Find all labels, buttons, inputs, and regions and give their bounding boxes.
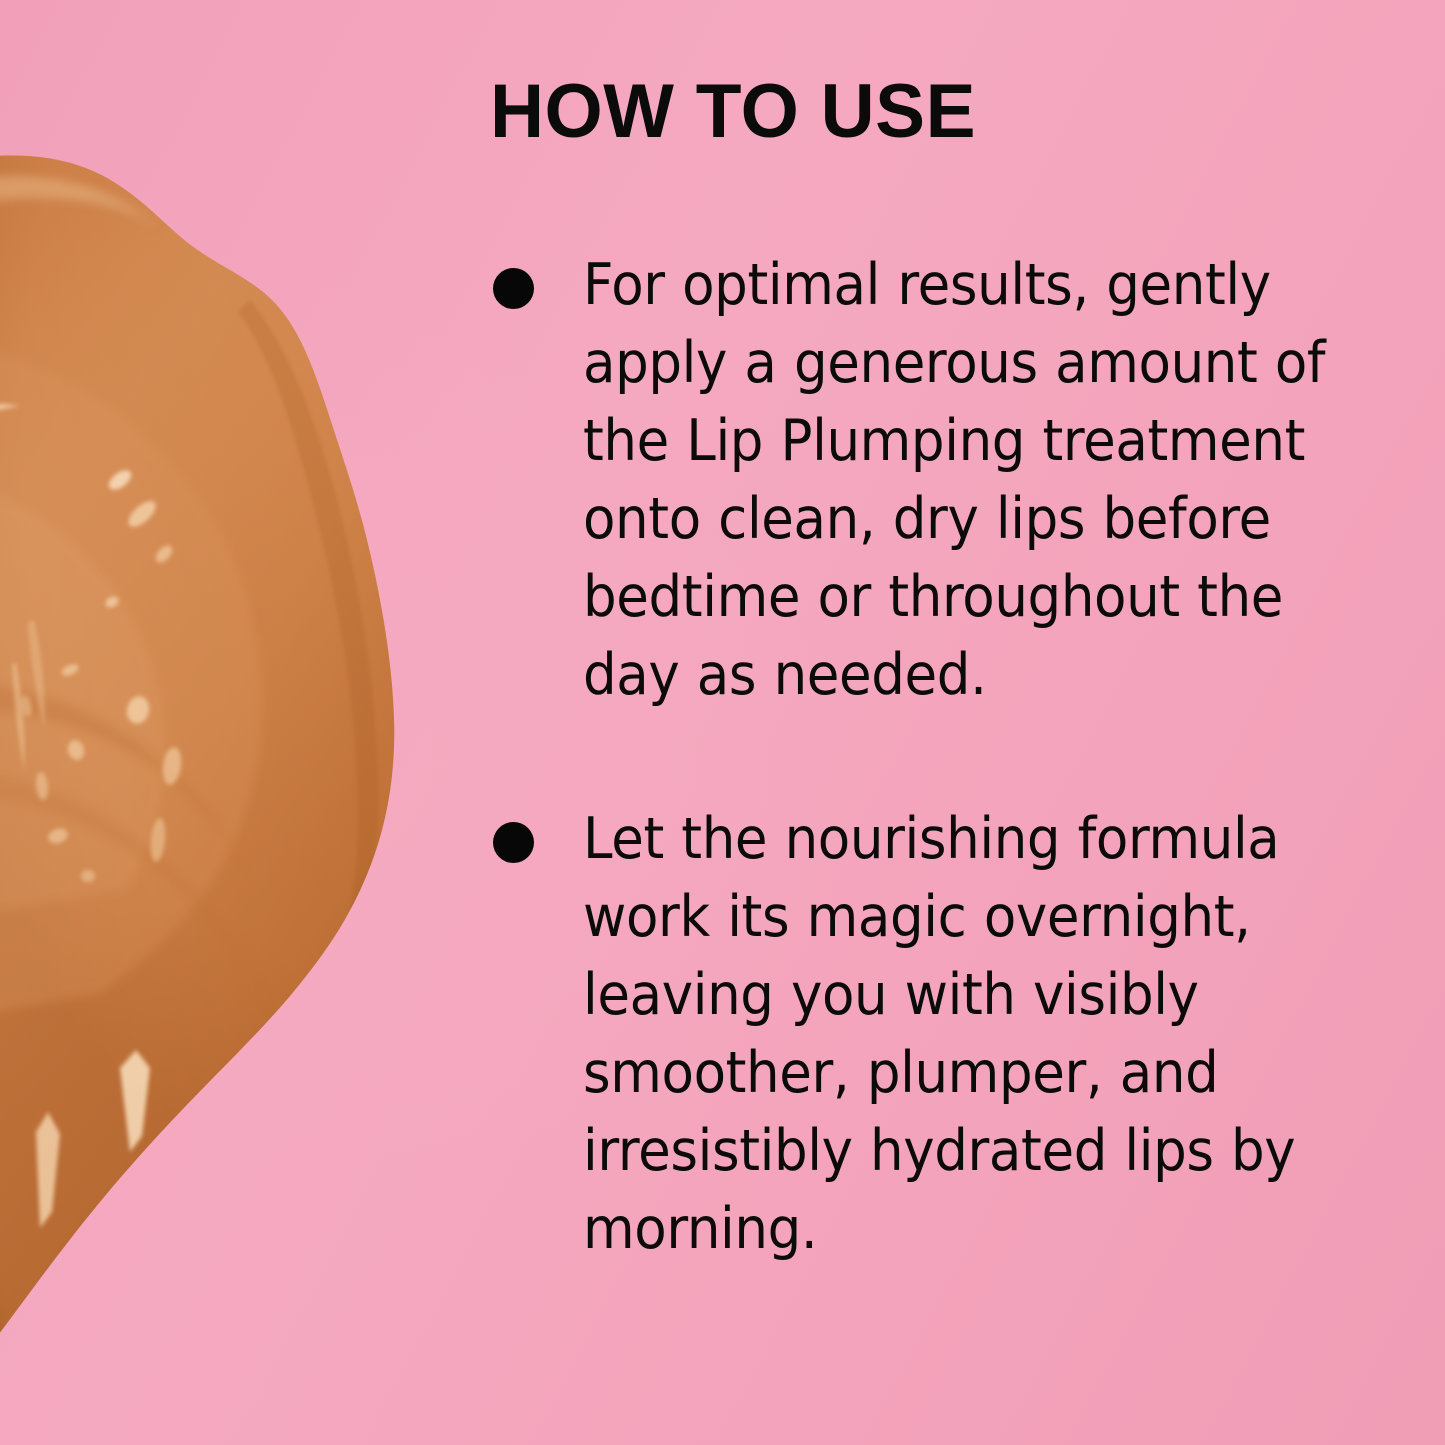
- bullet-dot-icon: [493, 822, 534, 863]
- list-item-text: For optimal results, gently apply a gene…: [583, 246, 1369, 714]
- list-item: Let the nourishing formula work its magi…: [487, 800, 1367, 1268]
- bullet-dot-icon: [493, 268, 534, 309]
- page-title: HOW TO USE: [490, 74, 976, 150]
- instructions-column: HOW TO USE For optimal results, gently a…: [487, 0, 1367, 1445]
- list-item-text: Let the nourishing formula work its magi…: [583, 800, 1369, 1268]
- list-item: For optimal results, gently apply a gene…: [487, 246, 1367, 714]
- how-to-use-list: For optimal results, gently apply a gene…: [487, 246, 1367, 1268]
- product-how-to-use-panel: HOW TO USE For optimal results, gently a…: [0, 0, 1445, 1445]
